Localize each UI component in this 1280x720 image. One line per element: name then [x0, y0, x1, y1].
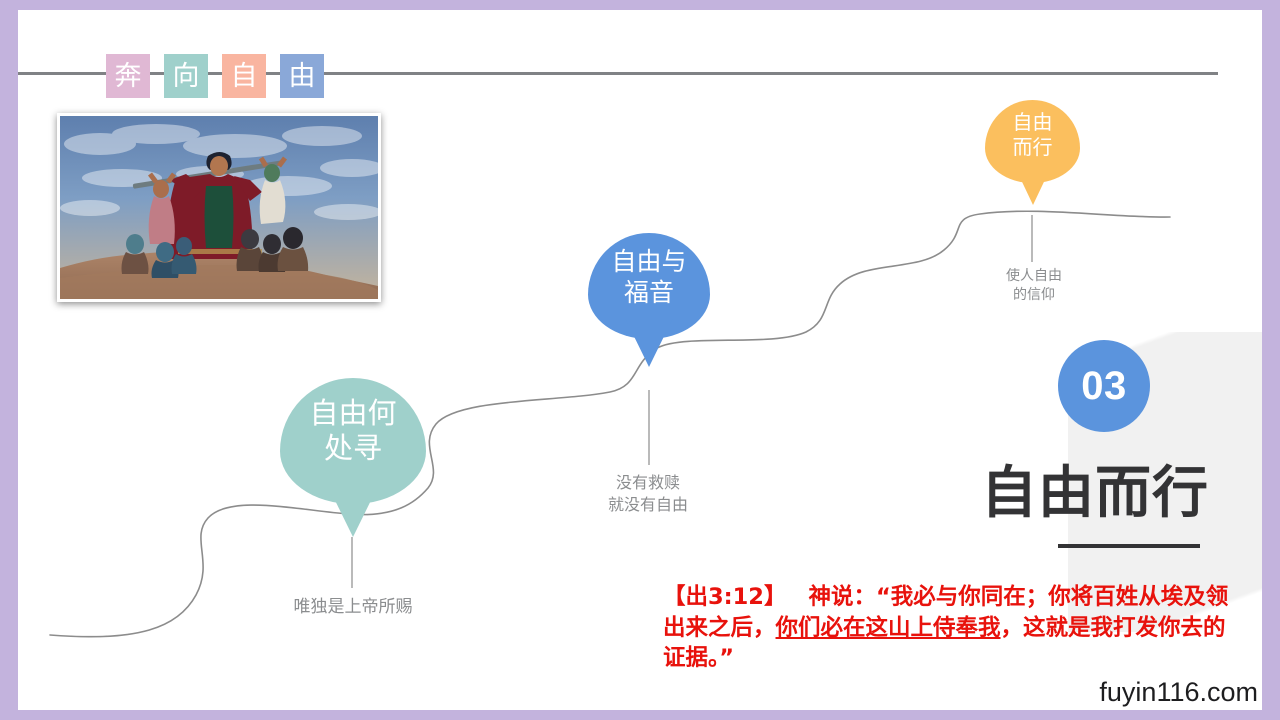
scripture-verse: 【出3:12】神说：“我必与你同在；你将百姓从埃及领出来之后，你们必在这山上侍奉… [663, 582, 1243, 674]
title-char-block-3: 自 [222, 54, 266, 98]
section-heading: 自由而行 [981, 448, 1209, 529]
journey-pin-3-label: 自由 而行 [1013, 110, 1053, 159]
slide-canvas: 奔 向 自 由 [18, 10, 1262, 710]
journey-pin-1[interactable]: 自由何 处寻 [280, 378, 426, 504]
scripture-text-underlined: 你们必在这山上侍奉我 [776, 615, 1001, 641]
journey-pin-3[interactable]: 自由 而行 [985, 100, 1080, 183]
moses-staff-illustration [60, 116, 378, 299]
section-number-badge: 03 [1058, 340, 1150, 432]
journey-pin-1-label: 自由何 处寻 [309, 396, 396, 467]
title-char-block-1: 奔 [106, 54, 150, 98]
title-char-block-4: 由 [280, 54, 324, 98]
journey-pin-3-caption: 使人自由 的信仰 [973, 267, 1095, 305]
title-char-block-2: 向 [164, 54, 208, 98]
journey-pin-2-caption: 没有救赎 就没有自由 [563, 472, 733, 515]
section-heading-underline [1058, 544, 1200, 548]
scripture-reference: 【出3:12】 [663, 584, 786, 610]
journey-pin-2[interactable]: 自由与 福音 [588, 233, 710, 339]
slide-title: 奔 向 自 由 [106, 54, 324, 98]
site-watermark: fuyin116.com [1099, 677, 1258, 708]
illustration-image [57, 113, 381, 302]
journey-pin-2-label: 自由与 福音 [611, 247, 686, 308]
journey-pin-1-caption: 唯独是上帝所赐 [233, 596, 473, 619]
